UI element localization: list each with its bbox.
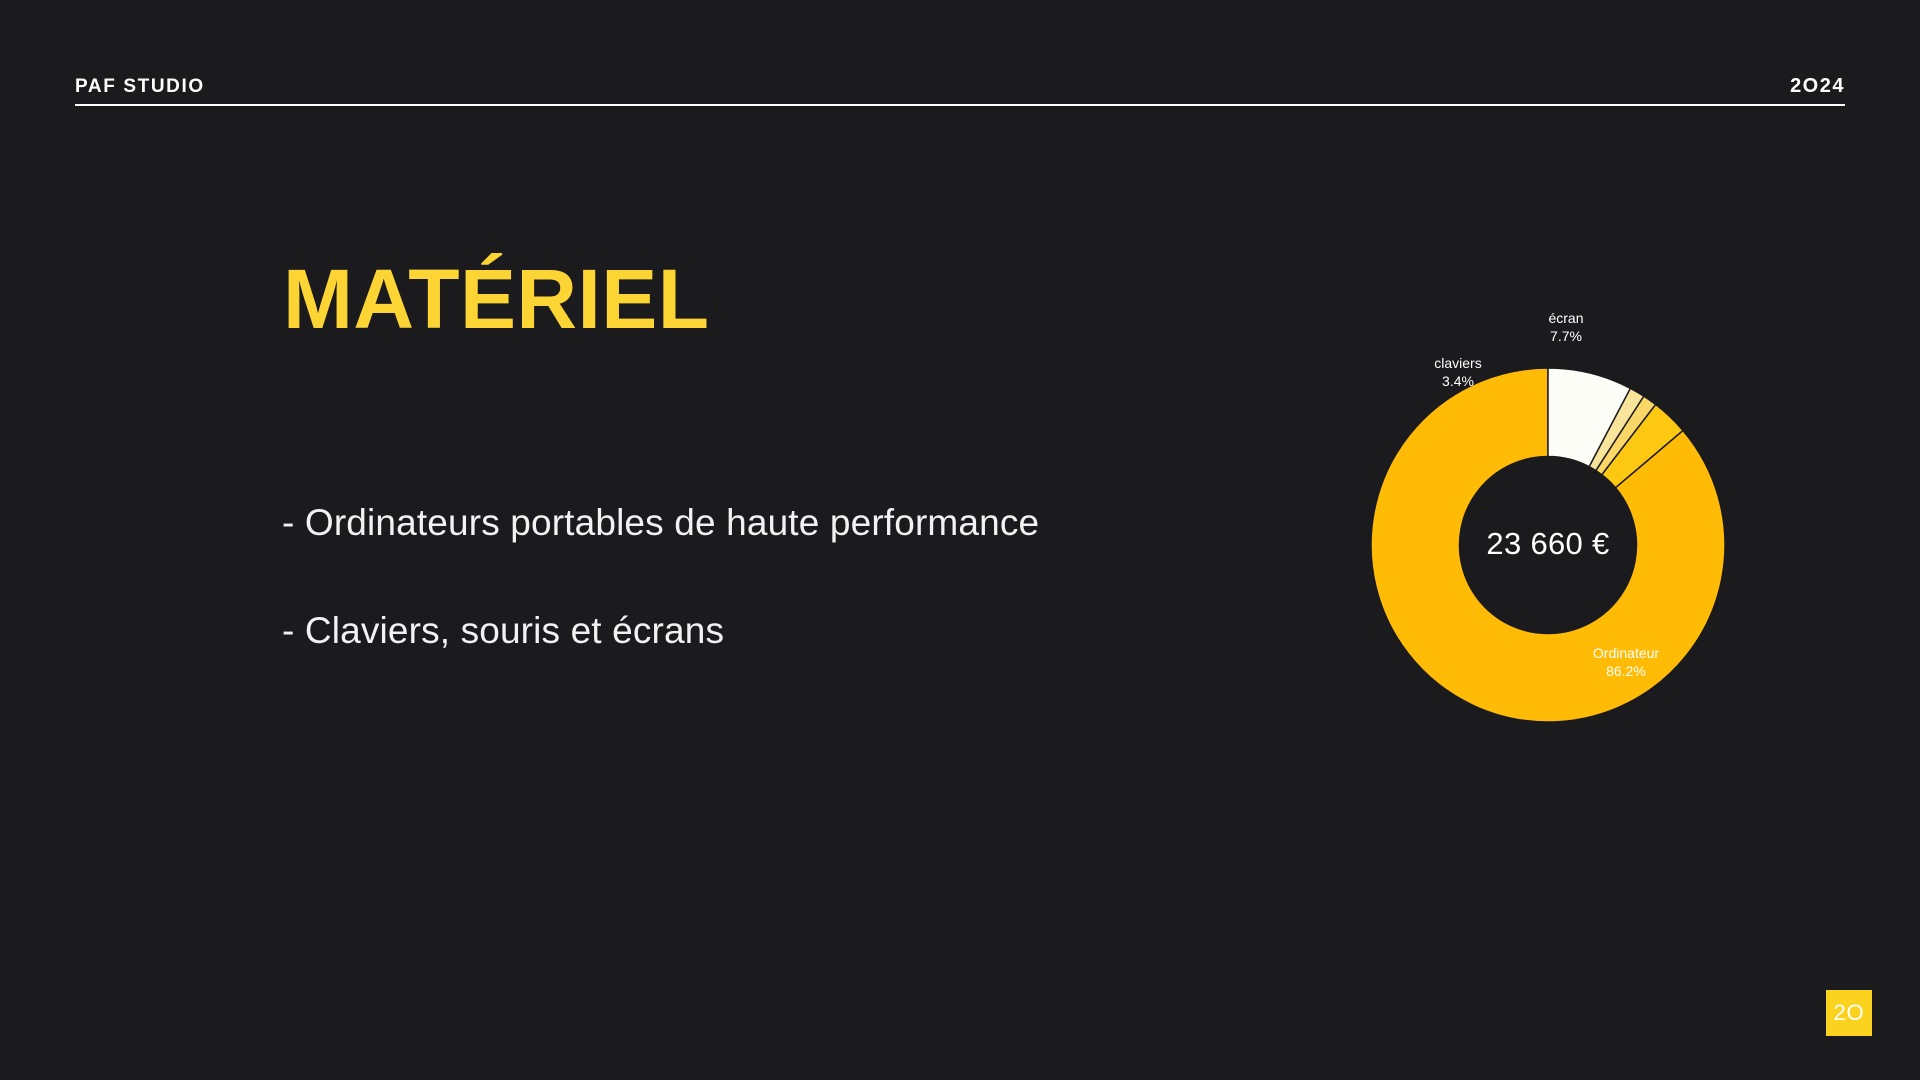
slice-label-ecran-percent: 7.7%: [1506, 328, 1626, 346]
slide-header: PAF STUDIO 2O24: [75, 62, 1845, 108]
slice-label-ecran: écran 7.7%: [1506, 310, 1626, 346]
slice-label-ordinateur-name: Ordinateur: [1593, 645, 1659, 661]
bullet-list: - Ordinateurs portables de haute perform…: [282, 500, 1302, 655]
header-year: 2O24: [1790, 76, 1845, 96]
header-divider: [75, 104, 1845, 106]
slice-label-ordinateur: Ordinateur 86.2%: [1546, 645, 1706, 681]
slide: PAF STUDIO 2O24 MATÉRIEL - Ordinateurs p…: [0, 0, 1920, 1080]
page-title: MATÉRIEL: [283, 254, 709, 345]
slice-label-ordinateur-percent: 86.2%: [1546, 663, 1706, 681]
donut-chart: 23 660 € écran 7.7% claviers 3.4% Ordina…: [1310, 310, 1790, 780]
slice-label-claviers-percent: 3.4%: [1398, 373, 1518, 391]
brand-name: PAF STUDIO: [75, 77, 205, 96]
page-number-badge: 2O: [1826, 990, 1872, 1036]
slice-label-claviers-name: claviers: [1434, 355, 1481, 371]
donut-center-total: 23 660 €: [1368, 526, 1728, 562]
list-item: - Claviers, souris et écrans: [282, 608, 1302, 654]
header-row: PAF STUDIO 2O24: [75, 62, 1845, 96]
slice-label-claviers: claviers 3.4%: [1398, 355, 1518, 391]
list-item: - Ordinateurs portables de haute perform…: [282, 500, 1302, 546]
slice-label-ecran-name: écran: [1548, 310, 1583, 326]
